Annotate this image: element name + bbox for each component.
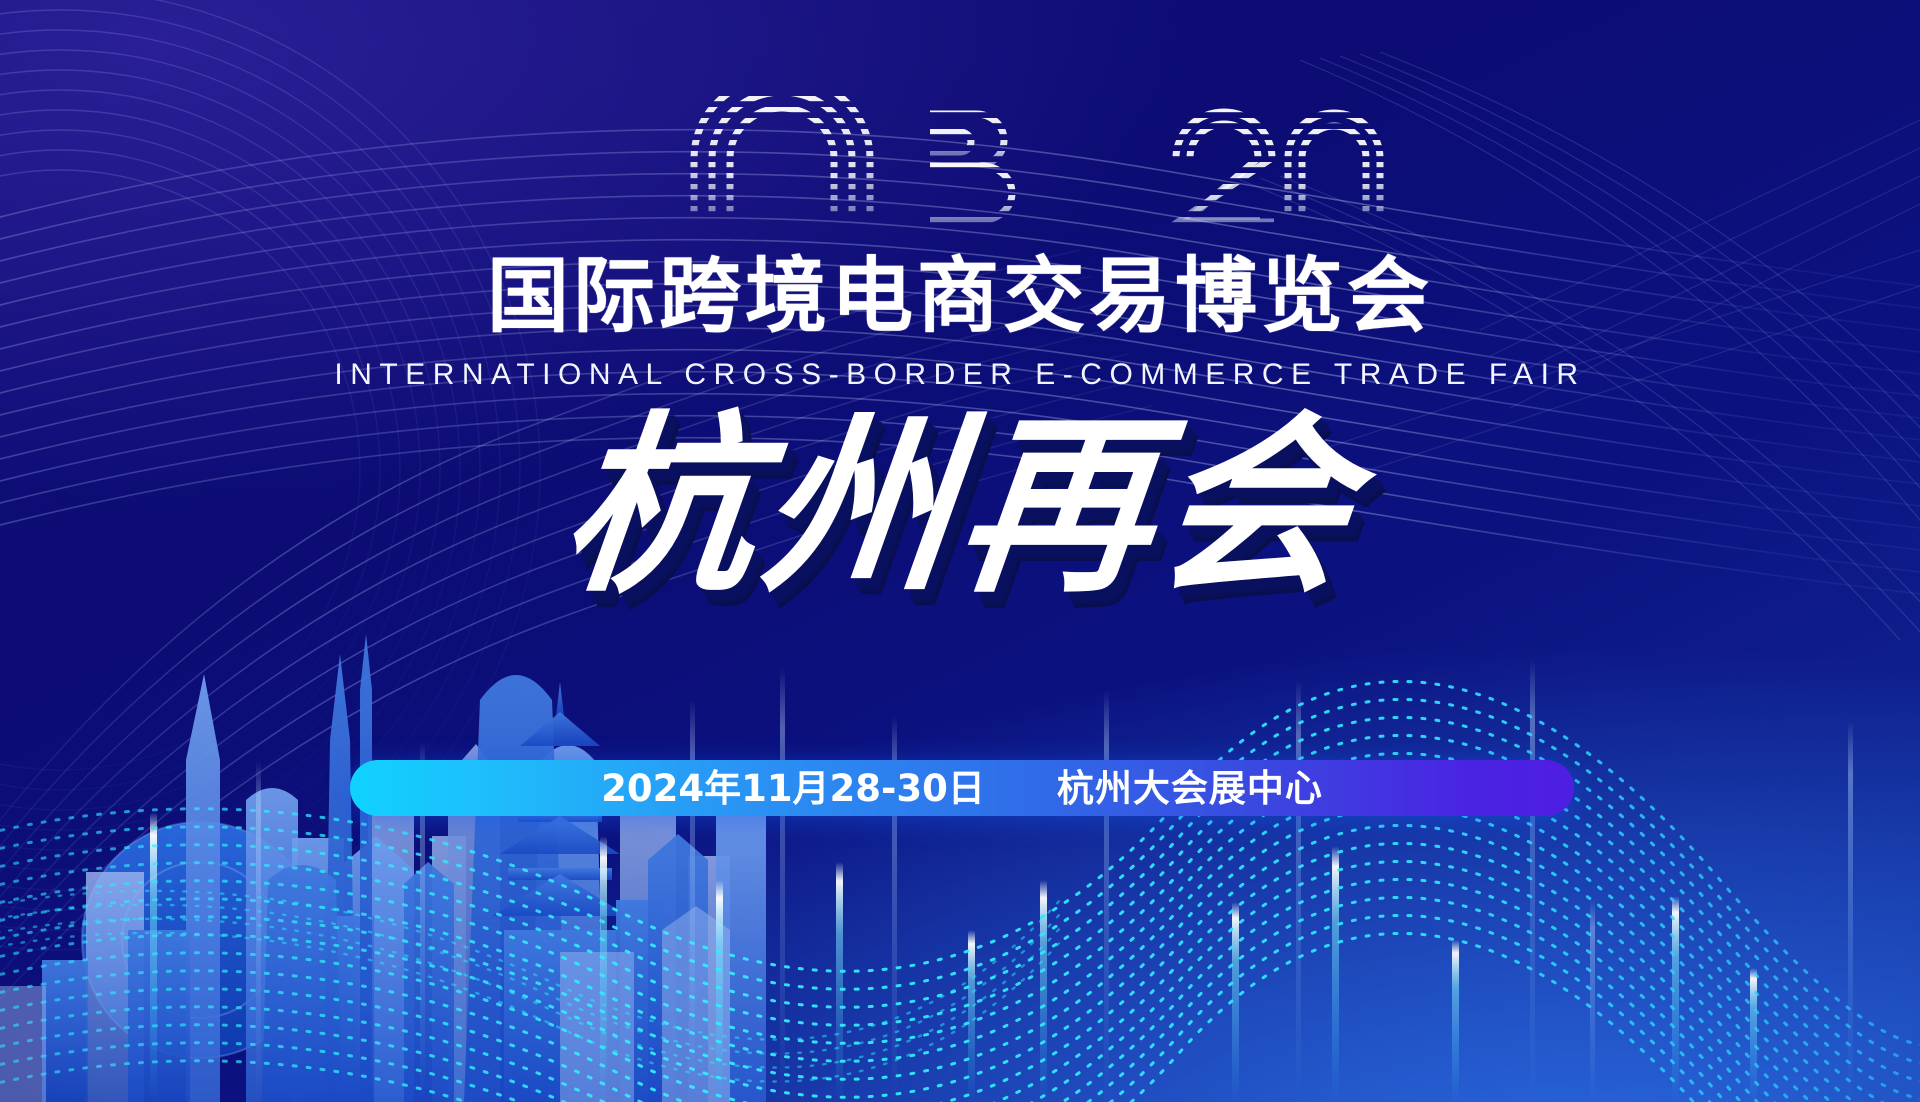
- hero-slogan: 杭州再会: [554, 412, 1366, 604]
- event-banner: 国际跨境电商交易博览会 INTERNATIONAL CROSS-BORDER E…: [0, 0, 1920, 1102]
- subtitle-english: INTERNATIONAL CROSS-BORDER E-COMMERCE TR…: [0, 360, 1920, 390]
- icbe-wordmark: [0, 96, 1920, 228]
- ferris-wheel: [82, 822, 318, 1058]
- event-venue: 杭州大会展中心: [1057, 770, 1323, 807]
- event-date: 2024年11月28-30日: [601, 770, 985, 807]
- headline-chinese: 国际跨境电商交易博览会: [0, 256, 1920, 338]
- icbe-wordmark-svg: [530, 96, 1390, 228]
- pagoda: [492, 682, 628, 1102]
- event-info-pill[interactable]: 2024年11月28-30日 杭州大会展中心: [350, 760, 1574, 816]
- hero-slogan-wrap: 杭州再会: [0, 412, 1920, 604]
